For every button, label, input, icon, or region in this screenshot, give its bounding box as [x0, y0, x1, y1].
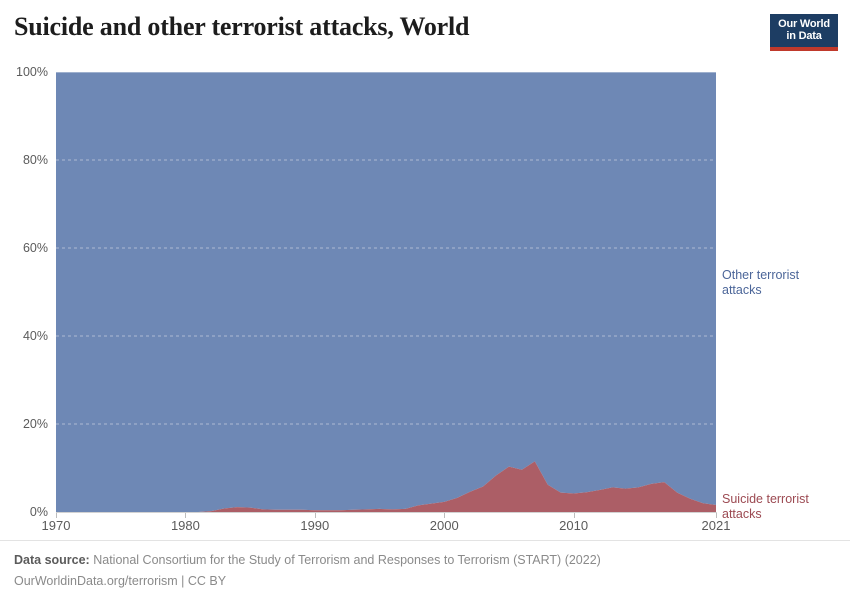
x-tick-mark-1980 — [185, 513, 186, 518]
x-tick-label-1970: 1970 — [42, 518, 71, 533]
page-title: Suicide and other terrorist attacks, Wor… — [14, 12, 469, 42]
y-tick-label-40pct: 40% — [23, 330, 48, 342]
data-source-text: National Consortium for the Study of Ter… — [93, 553, 601, 567]
x-tick-mark-1970 — [56, 513, 57, 518]
plot-area — [56, 72, 716, 512]
y-tick-label-60pct: 60% — [23, 242, 48, 254]
x-tick-label-2010: 2010 — [559, 518, 588, 533]
x-tick-mark-2000 — [444, 513, 445, 518]
series-label-other-line2: attacks — [722, 283, 842, 298]
x-tick-mark-2010 — [574, 513, 575, 518]
y-tick-label-20pct: 20% — [23, 418, 48, 430]
chart-footer: Data source: National Consortium for the… — [0, 540, 850, 601]
series-label-suicide-terrorist-attacks: Suicide terrorist attacks — [722, 492, 842, 521]
owid-logo[interactable]: Our World in Data — [770, 14, 838, 51]
series-label-suicide-line2: attacks — [722, 507, 842, 522]
x-tick-label-1990: 1990 — [300, 518, 329, 533]
x-tick-mark-1990 — [315, 513, 316, 518]
series-label-other-line1: Other terrorist — [722, 268, 842, 283]
chart-plot-region: 0%20%40%60%80%100% 197019801990200020102… — [0, 62, 850, 540]
x-tick-label-2000: 2000 — [430, 518, 459, 533]
y-tick-label-100pct: 100% — [16, 66, 48, 78]
chart-header: Suicide and other terrorist attacks, Wor… — [0, 0, 850, 62]
x-axis-line — [56, 512, 717, 513]
series-label-suicide-line1: Suicide terrorist — [722, 492, 842, 507]
chart-page: Suicide and other terrorist attacks, Wor… — [0, 0, 850, 600]
logo-line-1: Our World — [770, 18, 838, 30]
x-tick-mark-2021 — [716, 513, 717, 518]
area-other-terrorist-attacks — [56, 72, 716, 512]
data-source-line: Data source: National Consortium for the… — [14, 553, 601, 567]
series-label-other-terrorist-attacks: Other terrorist attacks — [722, 268, 842, 297]
x-tick-label-1980: 1980 — [171, 518, 200, 533]
attribution-line[interactable]: OurWorldinData.org/terrorism | CC BY — [14, 574, 226, 588]
stacked-area-chart — [56, 72, 716, 512]
y-tick-label-80pct: 80% — [23, 154, 48, 166]
logo-line-2: in Data — [770, 30, 838, 42]
data-source-label: Data source: — [14, 553, 90, 567]
y-tick-label-0pct: 0% — [30, 506, 48, 518]
